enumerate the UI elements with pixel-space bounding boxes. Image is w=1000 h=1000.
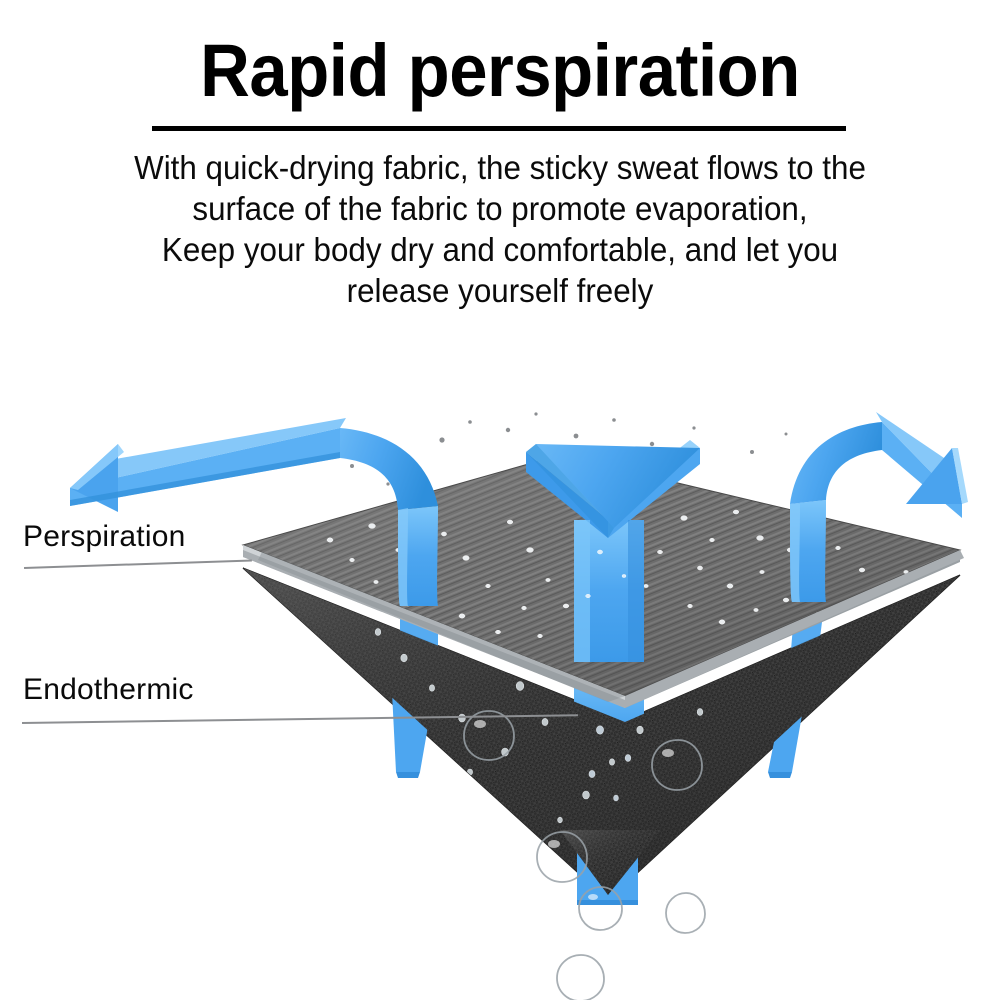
title-underline-rule xyxy=(152,126,846,131)
subtitle-line-2: surface of the fabric to promote evapora… xyxy=(73,188,928,229)
subtitle-line-4: release yourself freely xyxy=(73,270,928,311)
subtitle-paragraph: With quick-drying fabric, the sticky swe… xyxy=(73,147,928,311)
product-feature-panel: Rapid perspiration With quick-drying fab… xyxy=(0,0,1000,1000)
subtitle-line-3: Keep your body dry and comfortable, and … xyxy=(73,229,928,270)
callout-label-perspiration: Perspiration xyxy=(23,520,185,554)
callout-label-endothermic: Endothermic xyxy=(23,673,194,707)
subtitle-line-1: With quick-drying fabric, the sticky swe… xyxy=(73,147,928,188)
page-title: Rapid perspiration xyxy=(35,28,965,114)
